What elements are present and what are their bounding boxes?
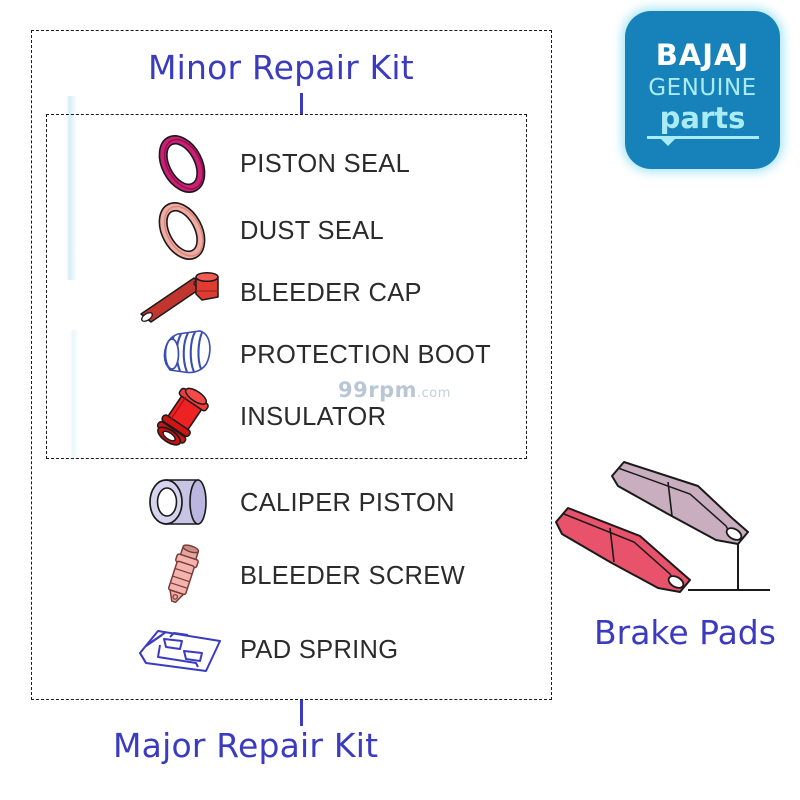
logo-underline-mark <box>647 136 759 139</box>
part-row-dust-seal: DUST SEAL <box>130 198 530 264</box>
brake-pads-icon <box>548 440 800 615</box>
part-row-pad-spring: PAD SPRING <box>130 617 530 683</box>
watermark: 99rpm.com <box>338 378 451 402</box>
part-label: DUST SEAL <box>240 217 384 246</box>
major-repair-kit-title: Major Repair Kit <box>113 726 378 765</box>
watermark-tld: .com <box>417 386 451 401</box>
piston-seal-icon <box>130 131 234 197</box>
watermark-text: 99rpm <box>338 378 417 402</box>
part-row-piston-seal: PISTON SEAL <box>130 131 530 197</box>
part-row-protection-boot: PROTECTION BOOT <box>130 322 530 388</box>
logo-parts-text: parts <box>660 104 746 133</box>
brake-pad-lower <box>556 508 690 592</box>
part-label: BLEEDER SCREW <box>240 562 465 591</box>
logo-genuine-text: GENUINE <box>648 77 756 100</box>
protection-boot-icon <box>130 322 234 388</box>
part-row-bleeder-cap: BLEEDER CAP <box>130 260 530 326</box>
part-row-bleeder-screw: BLEEDER SCREW <box>130 543 530 609</box>
logo-brand-text: BAJAJ <box>656 41 750 70</box>
diagram-canvas: Minor Repair Kit Major Repair Kit PISTON… <box>0 0 800 800</box>
part-label: BLEEDER CAP <box>240 279 422 308</box>
pad-spring-icon <box>130 617 234 683</box>
minor-kit-leader-line <box>300 93 303 114</box>
bleeder-cap-icon <box>130 260 234 326</box>
part-label: PISTON SEAL <box>240 150 410 179</box>
insulator-icon <box>130 384 234 450</box>
minor-repair-kit-title: Minor Repair Kit <box>148 48 414 87</box>
part-label: CALIPER PISTON <box>240 489 455 518</box>
part-label: PAD SPRING <box>240 636 398 665</box>
part-label: PROTECTION BOOT <box>240 341 491 370</box>
bajaj-genuine-parts-logo: BAJAJ GENUINE parts <box>625 11 780 169</box>
brake-pads-leader-lines <box>688 544 770 590</box>
dust-seal-icon <box>130 198 234 264</box>
part-row-insulator: INSULATOR <box>130 384 530 450</box>
bleeder-screw-icon <box>130 543 234 609</box>
major-kit-leader-line <box>300 700 303 726</box>
brake-pads-title: Brake Pads <box>594 613 776 652</box>
part-row-caliper-piston: CALIPER PISTON <box>130 470 530 536</box>
brake-pad-upper <box>612 462 748 544</box>
caliper-piston-icon <box>130 470 234 536</box>
part-label: INSULATOR <box>240 403 386 432</box>
